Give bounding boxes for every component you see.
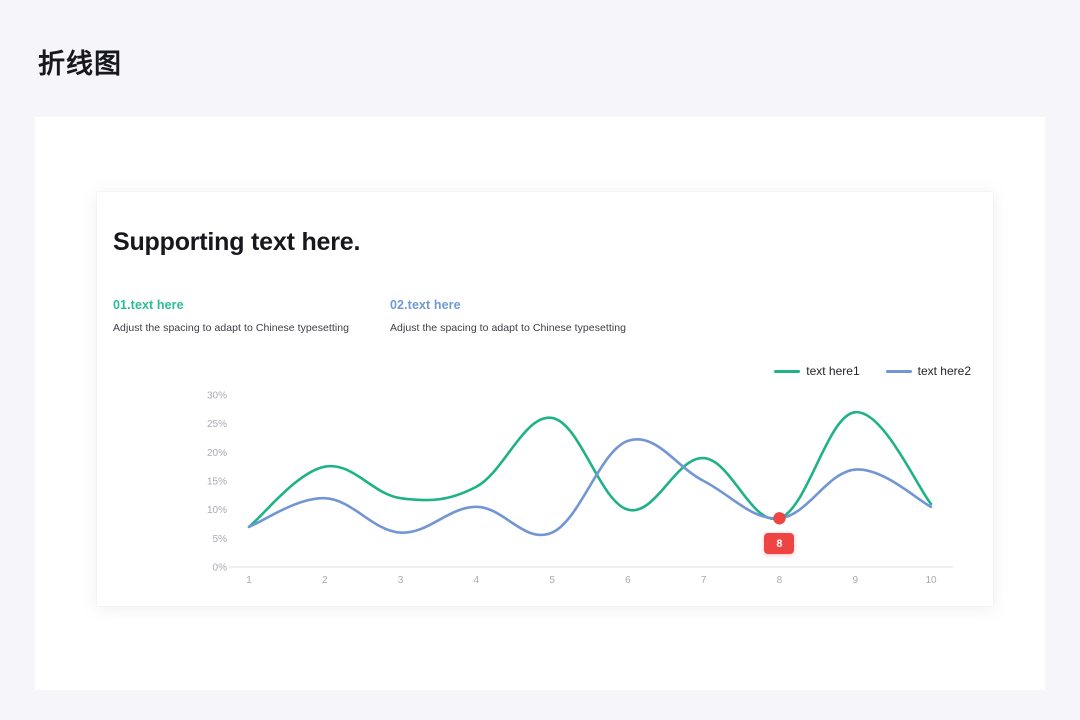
chart-plot-area: 0%5%10%15%20%25%30% 12345678910 8 (97, 388, 993, 588)
x-axis-tick-label: 3 (398, 575, 404, 586)
x-axis-tick-label: 8 (777, 575, 783, 586)
y-axis-tick-label: 5% (213, 534, 228, 545)
y-axis-tick-label: 0% (213, 563, 228, 574)
legend-item-series-1[interactable]: text here1 (774, 364, 859, 378)
feature-block-01: 01.text here Adjust the spacing to adapt… (113, 298, 349, 334)
x-axis-tick-label: 6 (625, 575, 631, 586)
legend-swatch-icon-series-1 (774, 370, 800, 373)
x-axis-tick-label: 10 (925, 575, 937, 586)
legend-swatch-icon-series-2 (886, 370, 912, 373)
feature-description-02: Adjust the spacing to adapt to Chinese t… (390, 322, 626, 334)
y-axis-tick-label: 30% (207, 391, 227, 402)
feature-description-01: Adjust the spacing to adapt to Chinese t… (113, 322, 349, 334)
marker-value-badge[interactable]: 8 (764, 533, 794, 554)
x-axis-tick-label: 4 (474, 575, 480, 586)
x-axis-tick-label: 1 (246, 575, 252, 586)
y-axis-tick-label: 15% (207, 477, 227, 488)
x-axis-tick-label: 2 (322, 575, 328, 586)
y-axis-tick-labels: 0%5%10%15%20%25%30% (207, 391, 227, 574)
series-line[interactable] (249, 412, 931, 527)
outer-card: Supporting text here. 01.text here Adjus… (35, 117, 1045, 690)
chart-panel: Supporting text here. 01.text here Adjus… (97, 192, 993, 606)
feature-title-01: 01.text here (113, 298, 349, 312)
chart-legend: text here1 text here2 (774, 364, 971, 378)
legend-item-series-2[interactable]: text here2 (886, 364, 971, 378)
y-axis-tick-label: 25% (207, 419, 227, 430)
y-axis-tick-label: 20% (207, 448, 227, 459)
feature-block-02: 02.text here Adjust the spacing to adapt… (390, 298, 626, 334)
panel-heading: Supporting text here. (113, 228, 360, 257)
page-title: 折线图 (38, 42, 122, 81)
series-line[interactable] (249, 439, 931, 535)
series-paths (249, 412, 931, 535)
x-axis-tick-label: 7 (701, 575, 707, 586)
point-marker (773, 512, 785, 524)
line-chart-svg: 0%5%10%15%20%25%30% 12345678910 (97, 388, 993, 588)
legend-label-series-2: text here2 (918, 364, 971, 378)
x-axis-tick-label: 9 (852, 575, 858, 586)
x-axis-tick-labels: 12345678910 (246, 575, 937, 586)
feature-title-02: 02.text here (390, 298, 626, 312)
y-axis-tick-label: 10% (207, 505, 227, 516)
highlight-point-marker-icon[interactable] (773, 512, 785, 524)
x-axis-tick-label: 5 (549, 575, 555, 586)
legend-label-series-1: text here1 (806, 364, 859, 378)
